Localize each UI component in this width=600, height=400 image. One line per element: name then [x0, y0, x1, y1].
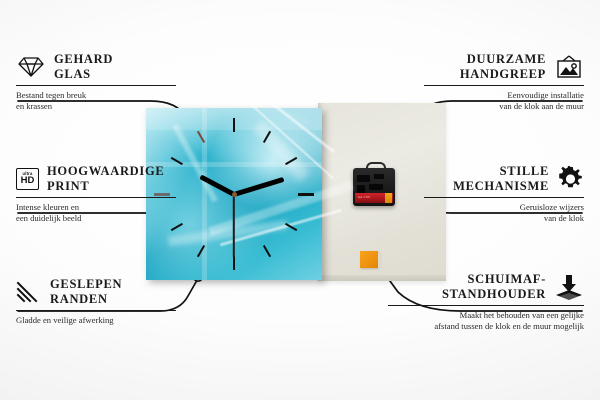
feature-title: STILLE MECHANISME	[453, 164, 549, 194]
feature-head: STILLE MECHANISME	[424, 164, 584, 194]
feature-title: GESLEPEN RANDEN	[50, 277, 122, 307]
feature-desc-line2: en krassen	[16, 101, 176, 112]
feature-desc-line2: afstand tussen de klok en de muur mogeli…	[388, 321, 584, 332]
feature-head: SCHUIMAF- STANDHOUDER	[388, 272, 584, 302]
divider	[16, 310, 176, 311]
feature-stille-mechanisme[interactable]: STILLE MECHANISME Geruisloze wijzers van…	[424, 164, 584, 224]
divider	[424, 85, 584, 86]
feature-title: HOOGWAARDIGE PRINT	[47, 164, 164, 194]
feature-title-line1: SCHUIMAF-	[442, 272, 546, 287]
gear-icon	[557, 166, 584, 192]
battery-label: AA 1.5V	[358, 195, 370, 199]
movement-notch	[357, 175, 370, 182]
feature-head: GEHARD GLAS	[16, 52, 176, 82]
movement-notch	[369, 184, 383, 190]
feature-desc: Intense kleuren en een duidelijk beeld	[16, 202, 176, 225]
divider	[424, 197, 584, 198]
feature-title-line2: GLAS	[54, 67, 113, 82]
feature-head: GESLEPEN RANDEN	[16, 277, 176, 307]
diamond-icon	[16, 55, 46, 79]
movement-notch	[374, 174, 384, 179]
tick-6	[233, 256, 235, 270]
feature-title: SCHUIMAF- STANDHOUDER	[442, 272, 546, 302]
feature-title: DUURZAME HANDGREEP	[460, 52, 546, 82]
feature-desc: Eenvoudige installatie van de klok aan d…	[424, 90, 584, 113]
feature-title-line1: DUURZAME	[460, 52, 546, 67]
feature-desc: Bestand tegen breuk en krassen	[16, 90, 176, 113]
feature-desc-line1: Maakt het behouden van een gelijke	[388, 310, 584, 321]
feature-title-line2: PRINT	[47, 179, 164, 194]
feature-title-line1: GEHARD	[54, 52, 113, 67]
battery-positive-terminal	[385, 193, 392, 203]
tick-5	[263, 245, 271, 257]
feature-title: GEHARD GLAS	[54, 52, 113, 82]
feature-desc-line2: een duidelijk beeld	[16, 213, 176, 224]
battery: AA 1.5V	[355, 193, 393, 203]
feature-title-line2: MECHANISME	[453, 179, 549, 194]
feature-head: DUURZAME HANDGREEP	[424, 52, 584, 82]
feature-desc-line2: van de klok aan de muur	[424, 101, 584, 112]
ultra-hd-icon-large-text: HD	[21, 176, 35, 186]
feature-head: ultra HD HOOGWAARDIGE PRINT	[16, 164, 176, 194]
foam-spacer-side	[378, 253, 382, 268]
tick-3	[298, 193, 314, 196]
feature-gehard-glas[interactable]: GEHARD GLAS Bestand tegen breuk en krass…	[16, 52, 176, 112]
ultra-hd-icon: ultra HD	[16, 168, 39, 190]
movement-notch	[357, 185, 365, 193]
feature-desc: Gladde en veilige afwerking	[16, 315, 176, 326]
hand-hub	[232, 192, 237, 197]
feature-geslepen-randen[interactable]: GESLEPEN RANDEN Gladde en veilige afwerk…	[16, 277, 176, 326]
feature-desc: Maakt het behouden van een gelijke afsta…	[388, 310, 584, 333]
feature-title-line1: GESLEPEN	[50, 277, 122, 292]
feature-title-line1: HOOGWAARDIGE	[47, 164, 164, 179]
divider	[16, 197, 176, 198]
feature-title-line2: RANDEN	[50, 292, 122, 307]
feature-desc-line1: Intense kleuren en	[16, 202, 176, 213]
hanging-hook-icon	[366, 162, 386, 172]
feature-title-line2: STANDHOUDER	[442, 287, 546, 302]
feature-schuimafstandhouder[interactable]: SCHUIMAF- STANDHOUDER Maakt het behouden…	[388, 272, 584, 332]
infographic-canvas: AA 1.5V	[0, 0, 600, 400]
feature-desc-line1: Bestand tegen breuk	[16, 90, 176, 101]
feature-desc-line1: Geruisloze wijzers	[424, 202, 584, 213]
divider	[388, 305, 584, 306]
second-hand	[233, 194, 235, 258]
tick-12	[233, 118, 235, 132]
minute-hand	[233, 176, 284, 196]
feature-title-line1: STILLE	[453, 164, 549, 179]
feature-hoogwaardige-print[interactable]: ultra HD HOOGWAARDIGE PRINT Intense kleu…	[16, 164, 176, 224]
feature-desc-line1: Eenvoudige installatie	[424, 90, 584, 101]
feature-desc: Geruisloze wijzers van de klok	[424, 202, 584, 225]
picture-frame-icon	[554, 54, 584, 80]
spacer-arrow-icon	[554, 273, 584, 301]
feature-duurzame-handgreep[interactable]: DUURZAME HANDGREEP Eenvoudige installati…	[424, 52, 584, 112]
diagonal-lines-icon	[16, 280, 42, 304]
divider	[16, 85, 176, 86]
feature-title-line2: HANDGREEP	[460, 67, 546, 82]
feature-desc-line2: van de klok	[424, 213, 584, 224]
clock-movement: AA 1.5V	[353, 168, 395, 206]
feature-desc-line1: Gladde en veilige afwerking	[16, 315, 176, 326]
glass-panel-line	[202, 108, 207, 280]
foam-spacer	[360, 251, 378, 268]
